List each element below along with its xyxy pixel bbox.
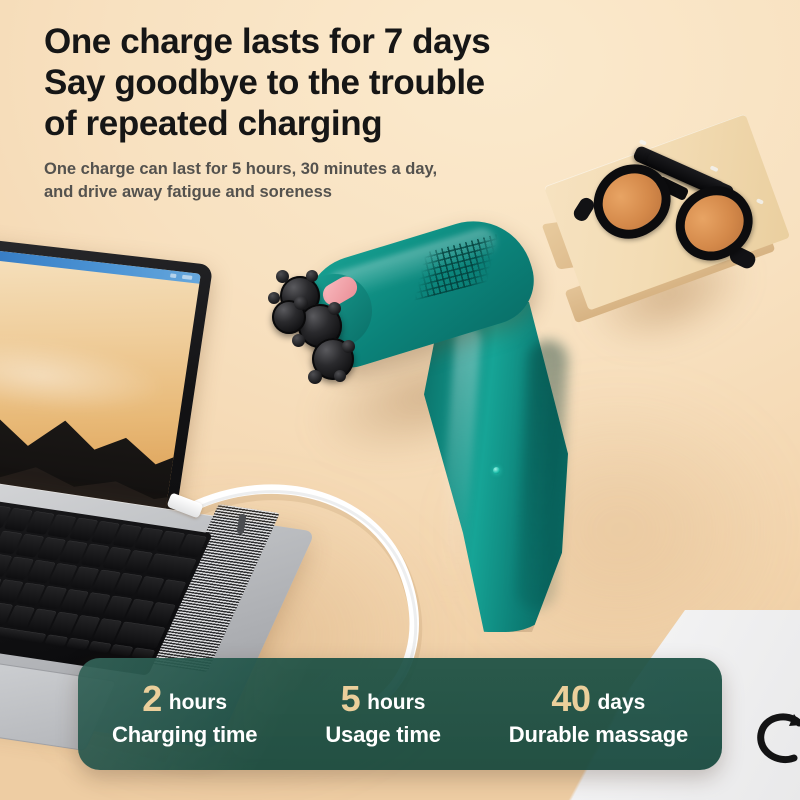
- page-subtitle: One charge can last for 5 hours, 30 minu…: [44, 158, 604, 204]
- marketing-copy: One charge lasts for 7 days Say goodbye …: [44, 22, 604, 203]
- stat-label: Charging time: [112, 722, 257, 748]
- neck-massager-product: [250, 230, 700, 680]
- page-title: One charge lasts for 7 days Say goodbye …: [44, 22, 604, 145]
- stat-value-row: 5hours: [325, 681, 440, 717]
- stat-number: 2: [142, 678, 162, 719]
- stat-label: Durable massage: [509, 722, 688, 748]
- product-marketing-image: One charge lasts for 7 days Say goodbye …: [0, 0, 800, 800]
- stat-label: Usage time: [325, 722, 440, 748]
- stat-unit: hours: [169, 691, 227, 714]
- brand-logo-mark: [750, 708, 800, 774]
- stat-value-row: 40days: [509, 681, 688, 717]
- macos-menu-bar: [0, 241, 201, 284]
- stat-value-row: 2hours: [112, 681, 257, 717]
- stat-number: 5: [341, 678, 361, 719]
- wallpaper-haze: [0, 309, 201, 442]
- stat-durable-massage: 40days Durable massage: [503, 681, 694, 748]
- massager-indicator-led: [493, 467, 500, 474]
- stat-charging-time: 2hours Charging time: [106, 681, 263, 748]
- stat-usage-time: 5hours Usage time: [319, 681, 446, 748]
- stat-unit: hours: [367, 691, 425, 714]
- stat-number: 40: [551, 678, 590, 719]
- stat-unit: days: [597, 691, 645, 714]
- stats-banner: 2hours Charging time 5hours Usage time 4…: [78, 658, 722, 770]
